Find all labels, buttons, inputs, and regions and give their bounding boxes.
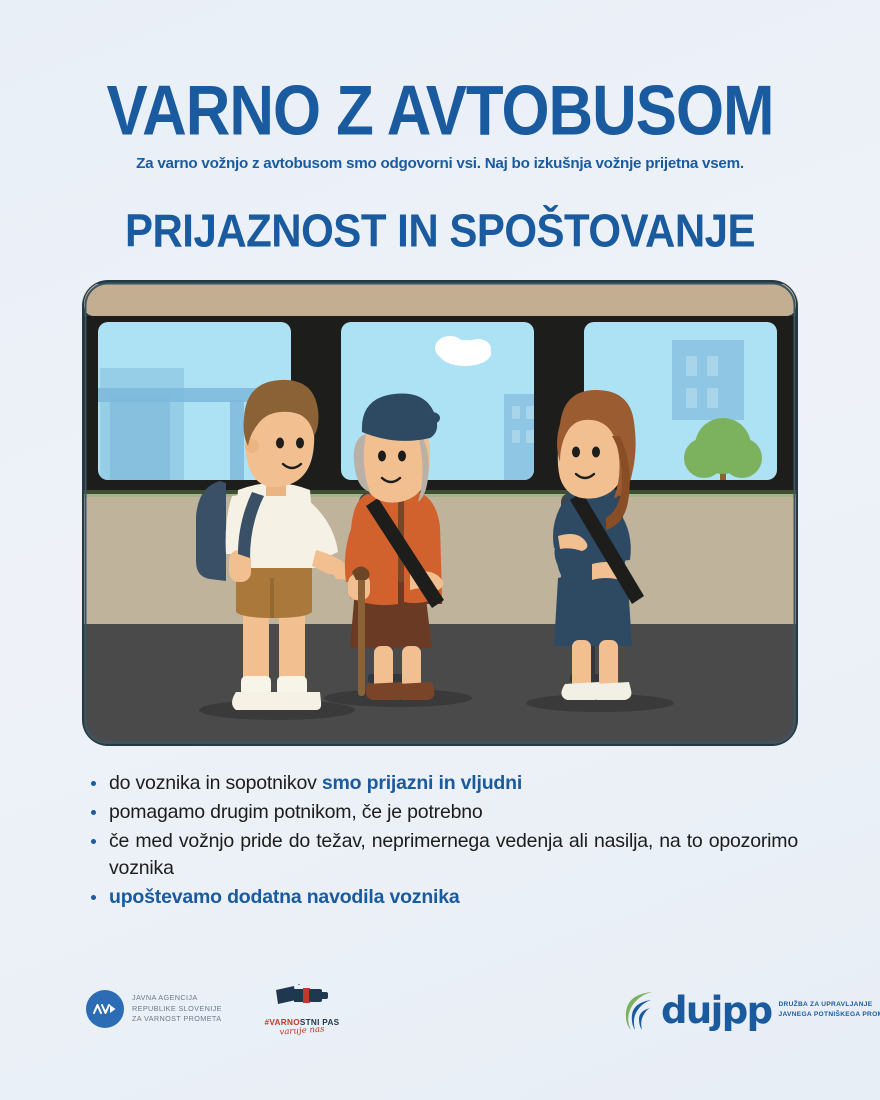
- dujpp-line-1: DRUŽBA ZA UPRAVLJANJE: [778, 1000, 880, 1010]
- bullet-text-plain: upoštevamo dodatna navodila voznika: [109, 886, 460, 908]
- dujpp-subtitle: DRUŽBA ZA UPRAVLJANJE JAVNEGA POTNIŠKEGA…: [778, 1000, 880, 1020]
- dujpp-swoosh-icon: [622, 988, 654, 1032]
- list-item: do voznika in sopotnikov smo prijazni in…: [82, 770, 798, 796]
- eye-left: [276, 438, 284, 449]
- bus-interior-illustration: [80, 278, 800, 748]
- bullet-text-plain: če med vožnjo pride do težav, neprimerne…: [109, 830, 798, 878]
- logo-avp: JAVNA AGENCIJA REPUBLIKE SLOVENIJE ZA VA…: [86, 990, 222, 1028]
- dujpp-wordmark: dujpp: [661, 992, 771, 1029]
- avp-line-2: REPUBLIKE SLOVENIJE: [132, 1004, 222, 1014]
- bus-ceiling: [84, 284, 796, 316]
- poster-tagline: Za varno vožnjo z avtobusom smo odgovorn…: [0, 155, 880, 172]
- avp-line-3: ZA VARNOST PROMETA: [132, 1014, 222, 1024]
- avp-line-1: JAVNA AGENCIJA: [132, 993, 222, 1003]
- logo-seatbelt-campaign: #VARNOSTNI PAS varuje nas: [256, 984, 348, 1036]
- list-item: pomagamo drugim potnikom, če je potrebno: [82, 799, 798, 825]
- bus-floor: [84, 624, 796, 746]
- footer-logos: JAVNA AGENCIJA REPUBLIKE SLOVENIJE ZA VA…: [0, 988, 880, 1048]
- list-item: upoštevamo dodatna navodila voznika: [82, 884, 798, 910]
- bullet-text-plain: pomagamo drugim potnikom, če je potrebno: [109, 801, 483, 823]
- page-title: VARNO Z AVTOBUSOM: [0, 78, 880, 143]
- list-item: če med vožnjo pride do težav, neprimerne…: [82, 828, 798, 880]
- eye-right: [296, 438, 304, 449]
- walking-cane: [358, 578, 365, 696]
- poster-root: VARNO Z AVTOBUSOM Za varno vožnjo z avto…: [0, 0, 880, 1100]
- seatbelt-buckle-icon: [272, 984, 332, 1012]
- avp-agency-text: JAVNA AGENCIJA REPUBLIKE SLOVENIJE ZA VA…: [132, 993, 222, 1024]
- poster-header: VARNO Z AVTOBUSOM Za varno vožnjo z avto…: [0, 0, 880, 252]
- section-title: PRIJAZNOST IN SPOŠTOVANJE: [0, 208, 880, 254]
- avp-mark-icon: [86, 990, 124, 1028]
- guidelines-list: do voznika in sopotnikov smo prijazni in…: [82, 770, 798, 910]
- bullet-text-strong: smo prijazni in vljudni: [322, 772, 522, 794]
- dujpp-line-2: JAVNEGA POTNIŠKEGA PROMETA: [778, 1010, 880, 1020]
- bullet-text-plain: do voznika in sopotnikov: [109, 772, 322, 794]
- logo-dujpp: dujpp DRUŽBA ZA UPRAVLJANJE JAVNEGA POTN…: [622, 988, 880, 1032]
